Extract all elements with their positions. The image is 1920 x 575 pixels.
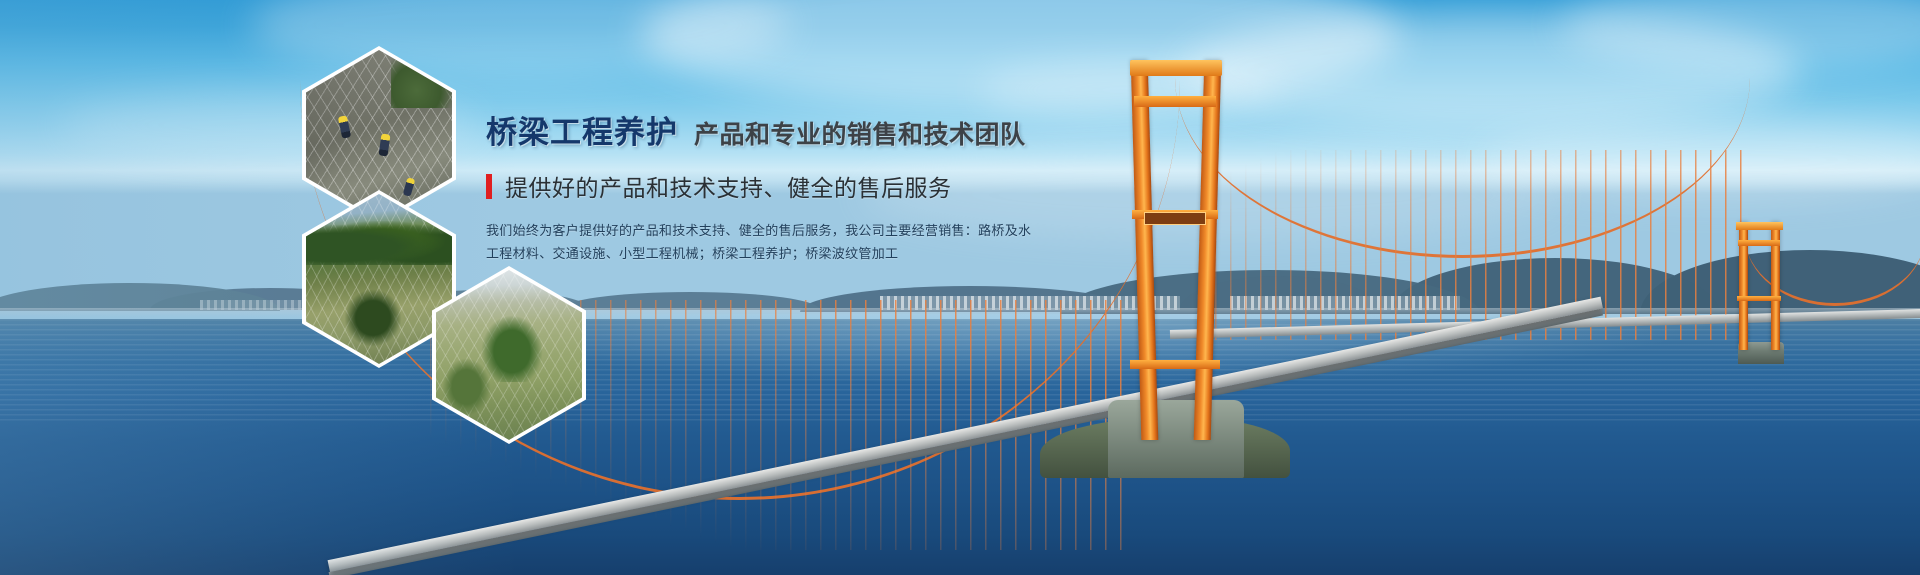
pylon-crossbeam xyxy=(1738,240,1780,246)
pylon-leg xyxy=(1194,60,1222,440)
bridge-pylon-far xyxy=(1736,222,1782,350)
body-line-1: 我们始终为客户提供好的产品和技术支持、健全的售后服务，我公司主要经营销售：路桥及… xyxy=(486,221,986,244)
pylon-crossbeam xyxy=(1130,360,1220,369)
headline-secondary: 产品和专业的销售和技术团队 xyxy=(694,120,1026,149)
photo-shrub xyxy=(344,289,402,347)
subheadline-text: 提供好的产品和技术支持、健全的售后服务 xyxy=(505,169,952,203)
headline-primary: 桥梁工程养护 xyxy=(486,115,678,151)
banner-text-block: 桥梁工程养护产品和专业的销售和技术团队 提供好的产品和技术支持、健全的售后服务 … xyxy=(486,118,1186,267)
hanger-cables xyxy=(1200,150,1745,340)
pylon-cap xyxy=(1130,60,1222,76)
suspension-bridge xyxy=(0,0,1920,575)
pylon-crossbeam xyxy=(1134,96,1216,107)
hexagon-image-clip xyxy=(306,194,452,364)
pylon-crossbeam xyxy=(1737,296,1781,301)
hexagon-image-clip xyxy=(436,270,582,440)
photo-treeline xyxy=(306,221,452,265)
banner-subheadline: 提供好的产品和技术支持、健全的售后服务 xyxy=(486,169,1186,203)
photo-hexagon-grass-slope[interactable] xyxy=(432,266,586,444)
banner-body-copy: 我们始终为客户提供好的产品和技术支持、健全的售后服务，我公司主要经营销售：路桥及… xyxy=(486,221,986,267)
body-line-2: 工程材料、交通设施、小型工程机械；桥梁工程养护；桥梁波纹管加工 xyxy=(486,244,986,267)
pylon-cap xyxy=(1736,222,1783,230)
hero-banner: 桥梁工程养护产品和专业的销售和技术团队 提供好的产品和技术支持、健全的售后服务 … xyxy=(0,0,1920,575)
banner-headline: 桥梁工程养护产品和专业的销售和技术团队 xyxy=(486,118,1186,149)
accent-bar-icon xyxy=(486,174,492,199)
